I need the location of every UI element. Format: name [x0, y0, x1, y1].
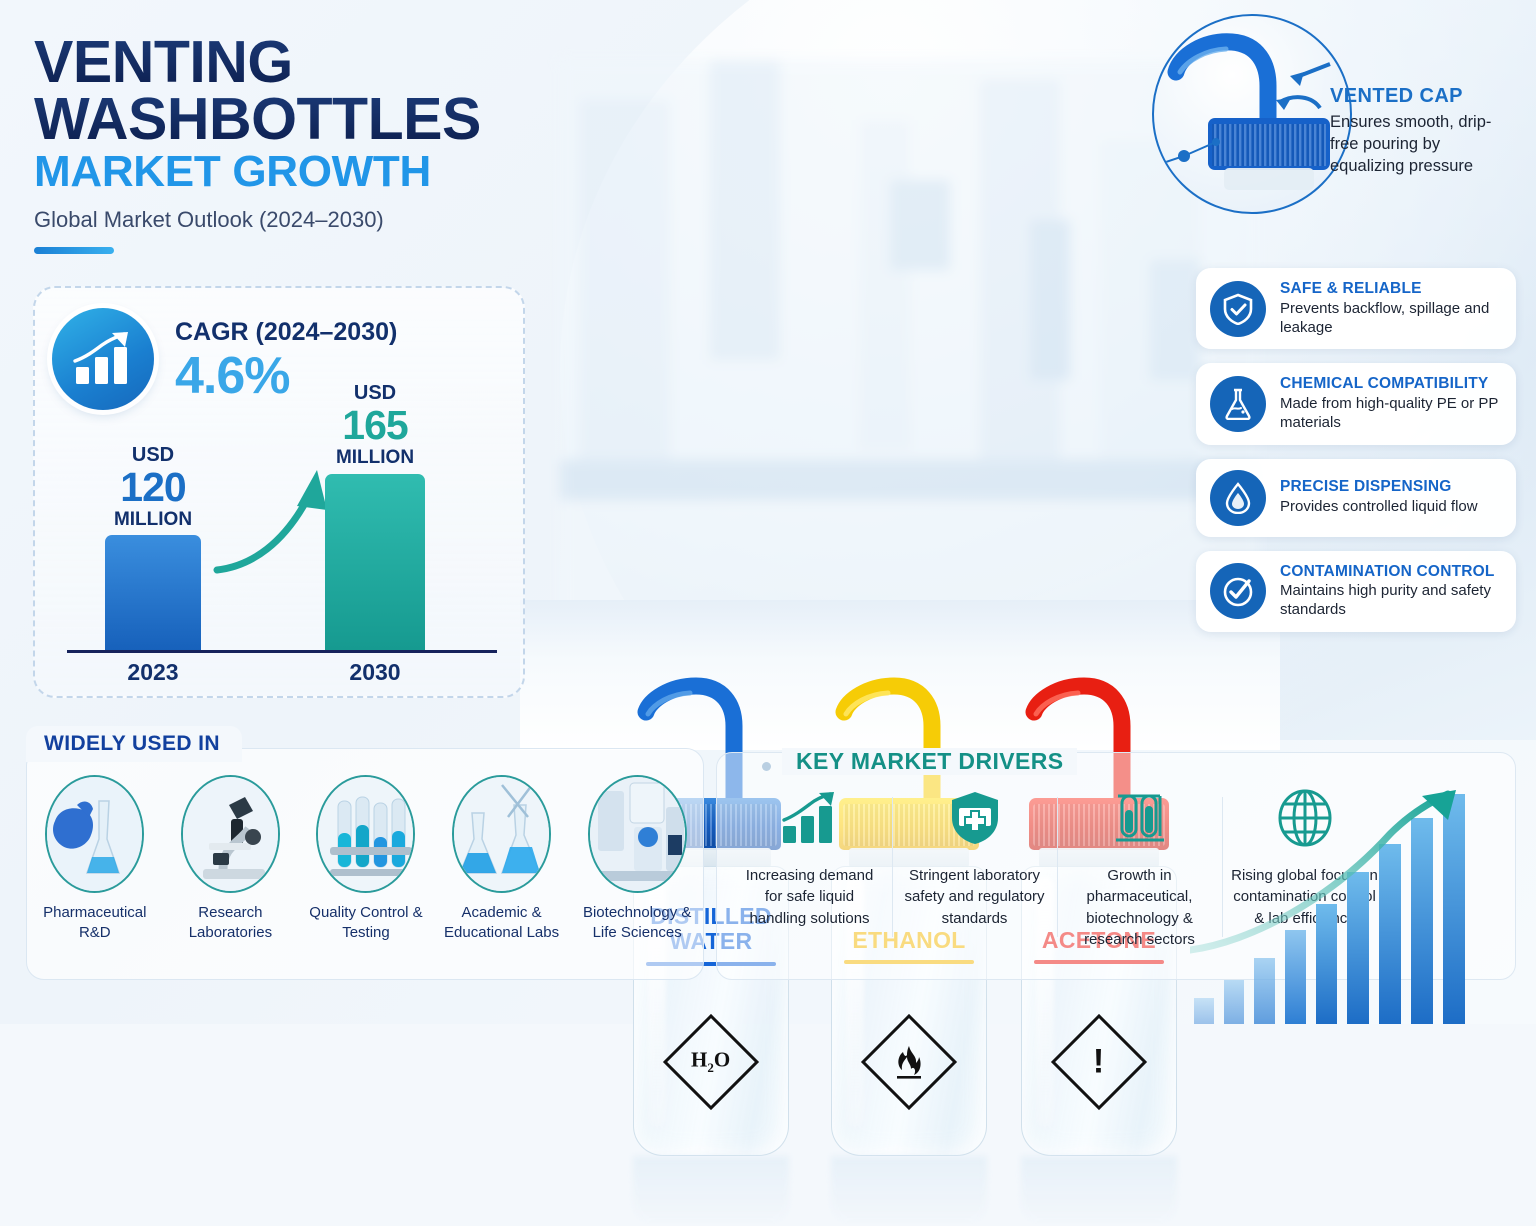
widely-used-item-biotechnology[interactable]: Biotechnology & Life Sciences: [574, 775, 700, 942]
widely-used-heading: WIDELY USED IN: [26, 726, 242, 762]
water-drop-icon: [1210, 470, 1266, 526]
feature-description: Made from high-quality PE or PP material…: [1280, 395, 1504, 433]
widely-used-item-academic[interactable]: Academic & Educational Labs: [439, 775, 565, 942]
bar-chart: USD 120 MILLION USD 165 MILLION 2023 203…: [35, 418, 527, 700]
lab-equipment-photo: [588, 775, 687, 893]
widely-used-item-quality-control[interactable]: Quality Control & Testing: [303, 775, 429, 942]
ascending-bars-decoration: [1190, 790, 1536, 1024]
bottle-reflection: [633, 1156, 789, 1226]
bar-2023-value: 120: [85, 466, 221, 509]
cagr-value: 4.6%: [175, 346, 290, 406]
circle-check-icon: [1210, 563, 1266, 619]
axis-tick-2030: 2030: [315, 659, 435, 686]
page-title-line2: WASHBOTTLES: [34, 91, 594, 148]
shield-medical-icon: [900, 787, 1049, 849]
feature-card-chemical-compatibility[interactable]: CHEMICAL COMPATIBILITY Made from high-qu…: [1196, 363, 1516, 444]
page-title-line3: MARKET GROWTH: [34, 149, 594, 195]
feature-cards-list: SAFE & RELIABLE Prevents backflow, spill…: [1196, 268, 1516, 646]
feature-card-contamination-control[interactable]: CONTAMINATION CONTROL Maintains high pur…: [1196, 551, 1516, 632]
feature-title: PRECISE DISPENSING: [1280, 478, 1504, 496]
flask-icon: [1210, 376, 1266, 432]
widely-used-panel: Pharmaceutical R&D Research Labor: [26, 748, 704, 980]
infographic-canvas: VENTING WASHBOTTLES MARKET GROWTH Global…: [0, 0, 1536, 1024]
key-drivers-connector-dot: [762, 762, 771, 771]
feature-title: CONTAMINATION CONTROL: [1280, 563, 1504, 581]
page-subtitle: Global Market Outlook (2024–2030): [34, 207, 594, 233]
feature-title: CHEMICAL COMPATIBILITY: [1280, 375, 1504, 393]
page-header: VENTING WASHBOTTLES MARKET GROWTH Global…: [34, 34, 594, 254]
chart-axis: [67, 650, 497, 653]
widely-used-caption: Academic & Educational Labs: [439, 903, 565, 942]
growth-bars-icon: [735, 787, 884, 849]
bar-2030-value: 165: [307, 404, 443, 447]
bar-2023-unit-suffix: MILLION: [85, 510, 221, 530]
bar-2023: [105, 535, 201, 650]
key-drivers-heading: KEY MARKET DRIVERS: [782, 748, 1077, 775]
vented-cap-photo: [1152, 14, 1352, 214]
cagr-label: CAGR (2024–2030): [175, 318, 397, 347]
market-growth-chart-panel: CAGR (2024–2030) 4.6% USD 120 MILLION US…: [33, 286, 525, 698]
bottle-reflection: [1021, 1156, 1177, 1226]
test-tube-rack-photo: [316, 775, 415, 893]
feature-description: Provides controlled liquid flow: [1280, 498, 1504, 517]
bottle-reflection: [831, 1156, 987, 1226]
widely-used-list: Pharmaceutical R&D Research Labor: [27, 775, 705, 942]
vented-cap-title: VENTED CAP: [1330, 85, 1463, 108]
key-driver-item-demand[interactable]: Increasing demand for safe liquid handli…: [727, 787, 892, 950]
bar-2030-unit-prefix: USD: [307, 383, 443, 404]
feature-description: Prevents backflow, spillage and leakage: [1280, 300, 1504, 338]
bar-2030: [325, 474, 425, 650]
key-driver-text: Stringent laboratory safety and regulato…: [900, 865, 1049, 929]
feature-title: SAFE & RELIABLE: [1280, 280, 1504, 298]
shield-check-icon: [1210, 281, 1266, 337]
bar-2030-unit-suffix: MILLION: [307, 448, 443, 468]
widely-used-caption: Biotechnology & Life Sciences: [574, 903, 700, 942]
feature-card-precise-dispensing[interactable]: PRECISE DISPENSING Provides controlled l…: [1196, 459, 1516, 537]
feature-card-safe-reliable[interactable]: SAFE & RELIABLE Prevents backflow, spill…: [1196, 268, 1516, 349]
growth-chart-icon: [52, 308, 154, 410]
widely-used-caption: Pharmaceutical R&D: [32, 903, 158, 942]
microscope-photo: [181, 775, 280, 893]
accent-divider: [34, 247, 114, 254]
widely-used-caption: Quality Control & Testing: [303, 903, 429, 942]
page-title-line1: VENTING: [34, 34, 594, 91]
erlenmeyer-flasks-photo: [452, 775, 551, 893]
key-driver-text: Increasing demand for safe liquid handli…: [735, 865, 884, 929]
widely-used-item-research[interactable]: Research Laboratories: [167, 775, 293, 942]
bar-2023-unit-prefix: USD: [85, 445, 221, 466]
feature-description: Maintains high purity and safety standar…: [1280, 582, 1504, 620]
key-driver-item-safety[interactable]: Stringent laboratory safety and regulato…: [892, 787, 1057, 950]
widely-used-caption: Research Laboratories: [167, 903, 293, 942]
vented-cap-description: Ensures smooth, drip-free pouring by equ…: [1330, 112, 1510, 178]
bar-label-2030: USD 165 MILLION: [307, 383, 443, 468]
widely-used-item-pharmaceutical[interactable]: Pharmaceutical R&D: [32, 775, 158, 942]
gloved-hand-flask-photo: [45, 775, 144, 893]
axis-tick-2023: 2023: [93, 659, 213, 686]
bar-label-2023: USD 120 MILLION: [85, 445, 221, 530]
washbottles-group: DISTILLED WATER H2O ETHANOL: [620, 150, 1200, 670]
